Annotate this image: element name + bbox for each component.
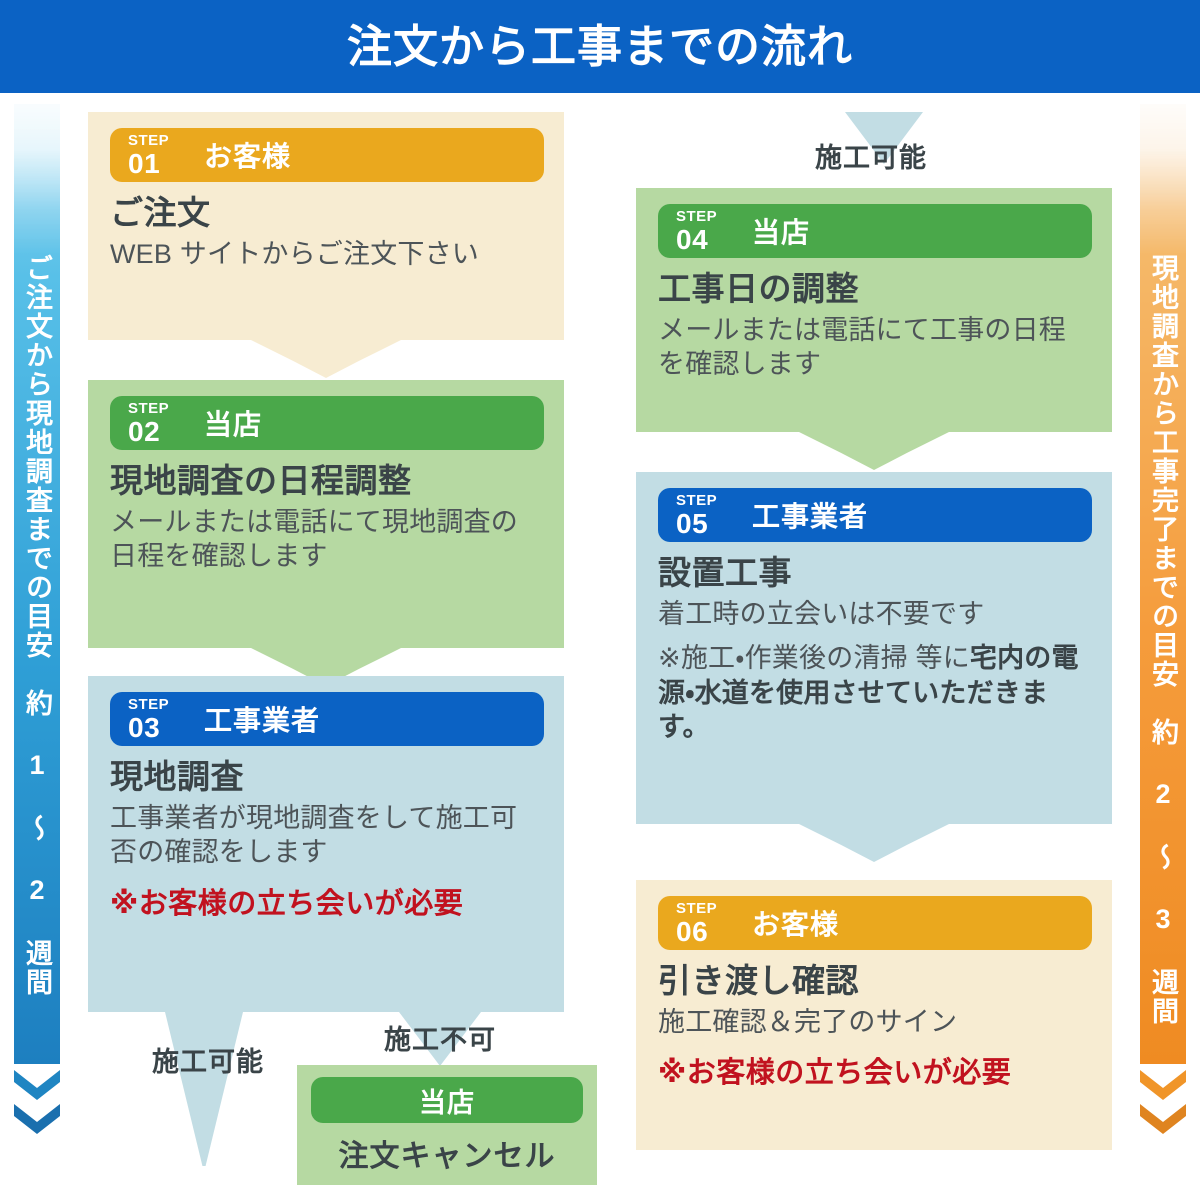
branch-label-ok-right: 施工可能 bbox=[815, 136, 927, 175]
step-card-05: STEP 05 工事業者 設置工事 着工時の立会いは不要です ※施工・作業後の清… bbox=[636, 472, 1112, 824]
cancel-label: 注文キャンセル bbox=[311, 1131, 583, 1175]
step-badge-03: STEP 03 工事業者 bbox=[110, 692, 544, 746]
step-body: 工事業者が現地調査をして施工可否の確認をします bbox=[110, 801, 544, 870]
step-number: 01 bbox=[128, 150, 192, 178]
step-role: お客様 bbox=[204, 135, 291, 175]
left-rail-label: ご注文から現地調査までの目安 約 1 〜 2 週間 bbox=[14, 254, 60, 1014]
branch-label-ng: 施工不可 bbox=[384, 1018, 496, 1057]
cancel-role-badge: 当店 bbox=[311, 1077, 583, 1123]
step-badge-04: STEP 04 当店 bbox=[658, 204, 1092, 258]
step-number: 06 bbox=[676, 918, 740, 946]
left-rail-chevron-icon bbox=[14, 1070, 60, 1100]
step-body: 施工確認＆完了のサイン bbox=[658, 1005, 1092, 1040]
step-number: 02 bbox=[128, 418, 192, 446]
step-title: 設置工事 bbox=[658, 554, 1092, 593]
branch-arrow-ok-icon bbox=[165, 1012, 243, 1166]
step-body: メールまたは電話にて工事の日程を確認します bbox=[658, 313, 1092, 382]
step-word: STEP bbox=[128, 401, 192, 416]
left-timeline-rail: ご注文から現地調査までの目安 約 1 〜 2 週間 bbox=[14, 104, 60, 1142]
step-card-06: STEP 06 お客様 引き渡し確認 施工確認＆完了のサイン ※お客様の立ち会い… bbox=[636, 880, 1112, 1150]
page-title: 注文から工事までの流れ bbox=[347, 24, 853, 69]
step-number: 04 bbox=[676, 226, 740, 254]
step-role: 工事業者 bbox=[204, 699, 320, 739]
step-number: 03 bbox=[128, 714, 192, 742]
flow-arrow-down-icon bbox=[251, 340, 401, 378]
step-body: WEB サイトからご注文下さい bbox=[110, 237, 544, 272]
order-cancel-box: 当店 注文キャンセル bbox=[297, 1065, 597, 1185]
step-warning: ※お客様の立ち会いが必要 bbox=[110, 880, 544, 922]
step-number-block: STEP 02 bbox=[128, 401, 192, 446]
step-title: 現地調査 bbox=[110, 758, 544, 797]
right-rail-chevron-icon bbox=[1140, 1070, 1186, 1100]
step-warning: ※お客様の立ち会いが必要 bbox=[658, 1049, 1092, 1091]
right-timeline-rail: 現地調査から工事完了までの目安 約 2 〜 3 週間 bbox=[1140, 104, 1186, 1142]
step-number-block: STEP 03 bbox=[128, 697, 192, 742]
step-word: STEP bbox=[676, 901, 740, 916]
halftone-dots-icon bbox=[14, 104, 60, 254]
step-note-normal: ※施工・作業後の清掃 等に bbox=[658, 643, 970, 673]
step-role: 当店 bbox=[204, 403, 262, 443]
step-role: お客様 bbox=[752, 903, 839, 943]
step-number-block: STEP 01 bbox=[128, 133, 192, 178]
page-header: 注文から工事までの流れ bbox=[0, 0, 1200, 93]
step-badge-01: STEP 01 お客様 bbox=[110, 128, 544, 182]
step-title: 工事日の調整 bbox=[658, 270, 1092, 309]
step-title: 現地調査の日程調整 bbox=[110, 462, 544, 501]
right-rail-chevron-icon bbox=[1140, 1104, 1186, 1134]
branch-label-ok-left: 施工可能 bbox=[152, 1040, 264, 1079]
step-word: STEP bbox=[676, 493, 740, 508]
step-word: STEP bbox=[128, 697, 192, 712]
step-card-03: STEP 03 工事業者 現地調査 工事業者が現地調査をして施工可否の確認をしま… bbox=[88, 676, 564, 1012]
step-word: STEP bbox=[676, 209, 740, 224]
step-body: 着工時の立会いは不要です bbox=[658, 597, 1092, 632]
step-body: メールまたは電話にて現地調査の日程を確認します bbox=[110, 505, 544, 574]
step-title: 引き渡し確認 bbox=[658, 962, 1092, 1001]
step-number-block: STEP 06 bbox=[676, 901, 740, 946]
flow-arrow-down-icon bbox=[799, 824, 949, 862]
step-role: 当店 bbox=[752, 211, 810, 251]
left-rail-chevron-icon bbox=[14, 1104, 60, 1134]
step-word: STEP bbox=[128, 133, 192, 148]
step-card-02: STEP 02 当店 現地調査の日程調整 メールまたは電話にて現地調査の日程を確… bbox=[88, 380, 564, 648]
halftone-dots-icon bbox=[1140, 104, 1186, 254]
step-body-note: ※施工・作業後の清掃 等に宅内の電源・水道を使用させていただきます。 bbox=[658, 641, 1092, 743]
flow-arrow-down-icon bbox=[799, 432, 949, 470]
right-rail-label: 現地調査から工事完了までの目安 約 2 〜 3 週間 bbox=[1140, 254, 1186, 1014]
step-badge-05: STEP 05 工事業者 bbox=[658, 488, 1092, 542]
step-card-04: STEP 04 当店 工事日の調整 メールまたは電話にて工事の日程を確認します bbox=[636, 188, 1112, 432]
infographic-root: 注文から工事までの流れ ご注文から現地調査までの目安 約 1 〜 2 週間 現地… bbox=[0, 0, 1200, 1200]
step-number-block: STEP 05 bbox=[676, 493, 740, 538]
step-badge-02: STEP 02 当店 bbox=[110, 396, 544, 450]
step-number-block: STEP 04 bbox=[676, 209, 740, 254]
step-card-01: STEP 01 お客様 ご注文 WEB サイトからご注文下さい bbox=[88, 112, 564, 340]
step-title: ご注文 bbox=[110, 194, 544, 233]
step-badge-06: STEP 06 お客様 bbox=[658, 896, 1092, 950]
step-number: 05 bbox=[676, 510, 740, 538]
step-role: 工事業者 bbox=[752, 495, 868, 535]
